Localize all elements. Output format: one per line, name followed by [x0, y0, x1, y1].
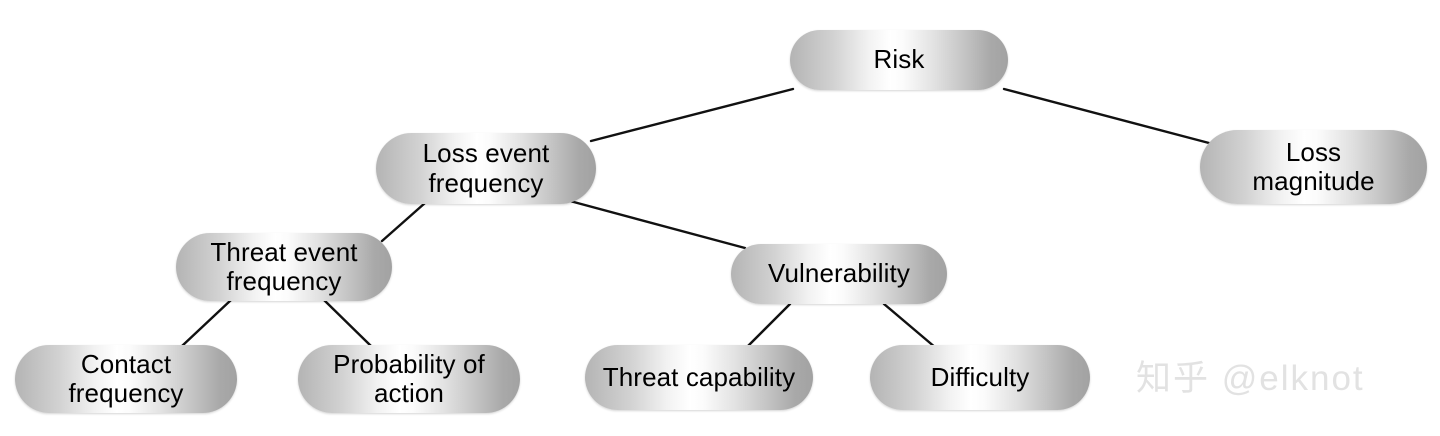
- node-probability-of-action[interactable]: Probability of action: [298, 345, 520, 413]
- node-loss-event-frequency[interactable]: Loss event frequency: [376, 133, 596, 204]
- watermark-text: 知乎 @elknot: [1136, 350, 1365, 401]
- edge-threat-event-frequency-to-contact-frequency: [182, 300, 231, 346]
- node-risk[interactable]: Risk: [790, 30, 1008, 90]
- node-label-risk: Risk: [860, 45, 939, 74]
- node-contact-frequency[interactable]: Contact frequency: [15, 345, 237, 413]
- node-label-probability-of-action: Probability of action: [319, 350, 499, 408]
- node-label-loss-magnitude: Loss magnitude: [1238, 138, 1388, 196]
- node-threat-event-frequency[interactable]: Threat event frequency: [176, 233, 392, 301]
- node-vulnerability[interactable]: Vulnerability: [731, 244, 947, 304]
- node-label-difficulty: Difficulty: [917, 363, 1044, 392]
- diagram-canvas: RiskLoss event frequencyLoss magnitudeTh…: [0, 0, 1440, 436]
- edge-loss-event-frequency-to-vulnerability: [570, 201, 745, 248]
- node-difficulty[interactable]: Difficulty: [870, 345, 1090, 410]
- edge-loss-event-frequency-to-threat-event-frequency: [382, 203, 425, 241]
- node-label-loss-event-frequency: Loss event frequency: [409, 139, 564, 197]
- node-label-threat-capability: Threat capability: [589, 363, 809, 392]
- edge-vulnerability-to-threat-capability: [746, 304, 790, 348]
- node-loss-magnitude[interactable]: Loss magnitude: [1200, 130, 1427, 204]
- node-threat-capability[interactable]: Threat capability: [585, 345, 813, 410]
- edge-risk-to-loss-event-frequency: [591, 89, 793, 141]
- edge-risk-to-loss-magnitude: [1004, 89, 1209, 143]
- node-label-threat-event-frequency: Threat event frequency: [196, 238, 371, 296]
- node-label-contact-frequency: Contact frequency: [54, 350, 197, 408]
- node-label-vulnerability: Vulnerability: [754, 259, 924, 288]
- edge-vulnerability-to-difficulty: [884, 304, 936, 348]
- edge-threat-event-frequency-to-probability-of-action: [324, 300, 371, 346]
